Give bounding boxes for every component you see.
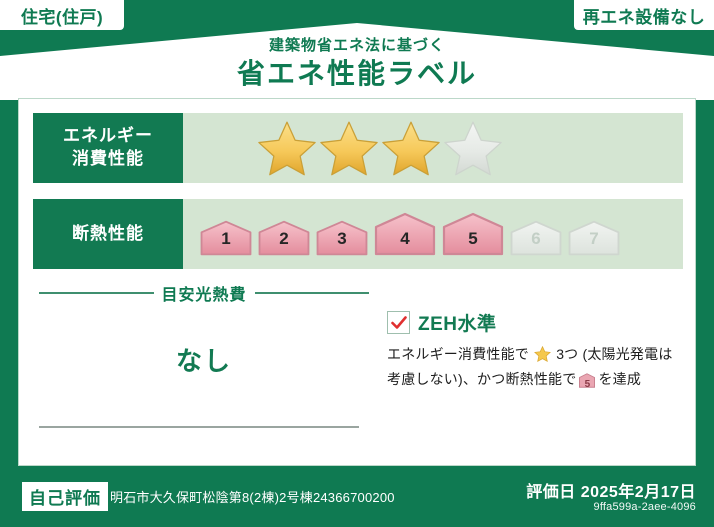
zeh-desc-post: を達成 <box>598 371 641 387</box>
insulation-level-6: 6 <box>509 220 563 256</box>
metric-label-insulation-line1: 断熱性能 <box>72 223 144 246</box>
insulation-level-number: 2 <box>257 229 311 249</box>
star-empty-icon <box>444 120 502 176</box>
star-filled-icon <box>382 120 440 176</box>
utility-cost-value: なし <box>39 341 369 378</box>
insulation-level-4: 4 <box>373 212 437 256</box>
metric-row-insulation: 断熱性能 1234567 <box>33 199 683 269</box>
insulation-level-number: 1 <box>199 229 253 249</box>
page-title: 省エネ性能ラベル <box>0 60 714 88</box>
utility-cost-divider <box>39 426 359 428</box>
insulation-level-number: 4 <box>373 229 437 249</box>
insulation-level-scale: 1234567 <box>199 212 621 256</box>
insulation-level-number: 6 <box>509 229 563 249</box>
insulation-level-1: 1 <box>199 220 253 256</box>
rule-left <box>39 292 154 294</box>
insulation-level-number: 3 <box>315 229 369 249</box>
zeh-section: ZEH水準 エネルギー消費性能で 3つ (太陽光発電は考慮しない)、かつ断熱性能… <box>387 309 679 394</box>
insulation-level-2: 2 <box>257 220 311 256</box>
zeh-description: エネルギー消費性能で 3つ (太陽光発電は考慮しない)、かつ断熱性能で 5 を達… <box>387 344 679 394</box>
zeh-desc-pre: エネルギー消費性能で <box>387 346 529 362</box>
insulation-level-3: 3 <box>315 220 369 256</box>
zeh-header: ZEH水準 <box>387 309 679 336</box>
metric-value-insulation: 1234567 <box>183 199 683 269</box>
inline-house-number: 5 <box>578 377 596 393</box>
rule-right <box>255 292 370 294</box>
self-evaluation-badge: 自己評価 <box>22 482 108 511</box>
check-icon <box>391 316 407 330</box>
insulation-level-5: 5 <box>441 212 505 256</box>
label-card: エネルギー 消費性能 断熱性能 1234567 目安光熱費 なし <box>18 98 696 466</box>
star-filled-icon <box>258 120 316 176</box>
star-filled-icon <box>320 120 378 176</box>
star-rating <box>258 120 502 176</box>
evaluation-id: 9ffa599a-2aee-4096 <box>594 501 697 513</box>
inline-house-icon: 5 <box>578 373 596 395</box>
title-block: 建築物省エネ法に基づく 省エネ性能ラベル <box>0 38 714 88</box>
metric-label-energy: エネルギー 消費性能 <box>33 113 183 183</box>
metric-label-insulation: 断熱性能 <box>33 199 183 269</box>
title-subtitle: 建築物省エネ法に基づく <box>0 38 714 53</box>
utility-cost-header: 目安光熱費 <box>39 281 369 305</box>
insulation-level-number: 5 <box>441 229 505 249</box>
metric-label-energy-line2: 消費性能 <box>72 148 144 171</box>
utility-cost-section: 目安光熱費 なし <box>39 281 369 378</box>
metric-label-energy-line1: エネルギー <box>63 125 153 148</box>
insulation-level-7: 7 <box>567 220 621 256</box>
evaluation-date: 評価日 2025年2月17日 <box>526 478 696 502</box>
energy-label-root: 住宅(住戸) 再エネ設備なし 建築物省エネ法に基づく 省エネ性能ラベル エネルギ… <box>0 0 714 527</box>
utility-cost-title: 目安光熱費 <box>162 281 247 305</box>
tag-building-type: 住宅(住戸) <box>0 0 124 30</box>
metric-value-energy <box>183 113 683 183</box>
metric-row-energy: エネルギー 消費性能 <box>33 113 683 183</box>
property-address: 明石市大久保町松陰第8(2棟)2号棟24366700200 <box>110 487 395 506</box>
zeh-title: ZEH水準 <box>418 309 497 336</box>
footer-bar: 自己評価 明石市大久保町松陰第8(2棟)2号棟24366700200 評価日 2… <box>0 470 714 527</box>
tag-renewable-energy: 再エネ設備なし <box>574 0 714 30</box>
inline-star-icon <box>530 349 555 365</box>
insulation-level-number: 7 <box>567 229 621 249</box>
zeh-checkbox[interactable] <box>387 311 410 334</box>
